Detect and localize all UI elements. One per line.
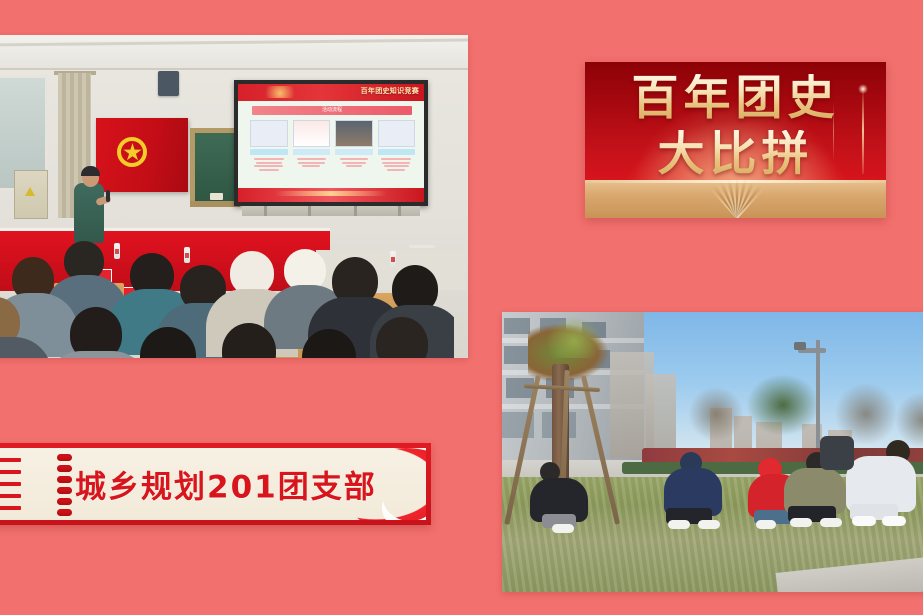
projected-slide-footer <box>238 188 424 202</box>
slide-card <box>335 120 373 171</box>
event-title-banner: 百年团史 大比拼 <box>585 62 886 218</box>
header-glow <box>260 86 300 98</box>
projected-slide: 百年团史知识竞赛 活动流程 <box>238 84 424 202</box>
audience <box>0 231 454 358</box>
presenter-cap <box>81 166 100 176</box>
projection-screen: 百年团史知识竞赛 活动流程 <box>234 80 428 206</box>
microphone <box>106 190 110 202</box>
slide-card-bar <box>293 149 331 155</box>
slide-card-bar <box>335 149 373 155</box>
slide-card-bar <box>250 149 288 155</box>
section-label-text: 活动流程 <box>252 106 412 115</box>
wooden-stage-floor <box>585 180 886 218</box>
slide-card-image <box>293 120 331 147</box>
org-title-banner: 城乡规划201团支部 <box>0 443 431 525</box>
banner-title-line-1: 百年团史 <box>585 74 886 124</box>
slide-card-text <box>335 158 373 167</box>
slide-card-text <box>293 158 331 167</box>
wall-speaker <box>158 71 179 96</box>
warning-triangle-icon <box>25 187 35 196</box>
org-title-label: 城乡规划201团支部 <box>75 462 377 507</box>
ceiling-trim <box>0 68 468 70</box>
projected-slide-section-label: 活动流程 <box>252 106 412 115</box>
banner-title-line-2: 大比拼 <box>585 130 886 180</box>
slide-card-image <box>335 120 373 147</box>
presentation-slide: 百年团史知识竞赛 活动流程 <box>0 0 923 615</box>
projected-slide-cards <box>250 120 415 171</box>
slide-card-image <box>378 120 416 147</box>
pine-tree <box>746 374 820 436</box>
electrical-panel <box>14 170 48 219</box>
bare-tree <box>688 382 744 446</box>
slide-card-image <box>250 120 288 147</box>
slide-card <box>250 120 288 171</box>
far-building <box>646 374 676 458</box>
communist-youth-league-flag <box>96 118 188 192</box>
slide-card <box>293 120 331 171</box>
screen-mount-rail <box>242 206 420 216</box>
classroom-activity-photo: 百年团史知识竞赛 活动流程 <box>0 35 468 358</box>
org-title-paper: 城乡规划201团支部 <box>0 448 426 520</box>
tree-foliage <box>546 316 602 358</box>
slide-card-bar <box>378 149 416 155</box>
outdoor-volunteer-photo <box>502 312 923 592</box>
slide-card-text <box>378 158 416 171</box>
projected-slide-header: 百年团史知识竞赛 <box>238 84 424 101</box>
blackboard-eraser <box>210 193 223 200</box>
slide-card-text <box>250 158 288 171</box>
security-camera-icon <box>794 342 806 350</box>
chalk-tray <box>190 201 240 207</box>
projected-slide-title: 百年团史知识竞赛 <box>361 86 419 96</box>
slide-card <box>378 120 416 171</box>
banner-text-block: 百年团史 大比拼 <box>585 74 886 180</box>
